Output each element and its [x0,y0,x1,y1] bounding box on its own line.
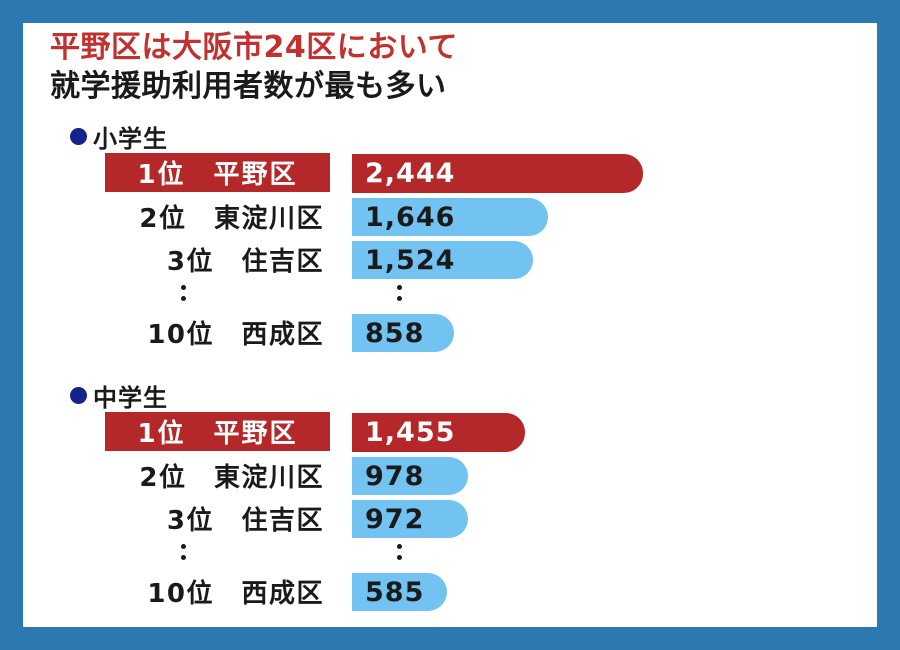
rank-ellipsis-row [23,282,877,312]
value-bar: 972 [352,500,468,538]
rank-row: 3位 住吉区1,524 [23,239,877,282]
section-heading-junior: 中学生 [23,378,877,412]
value-bar: 978 [352,457,468,495]
rank-row: 2位 東淀川区978 [23,455,877,498]
value-text: 972 [365,504,424,535]
value-text: 1,646 [365,202,455,233]
rank-ellipsis-row [23,541,877,571]
section-junior: 中学生1位 平野区1,4552位 東淀川区9783位 住吉区97210位 西成区… [23,378,877,614]
value-bar: 1,646 [352,198,548,236]
vertical-ellipsis-icon [397,544,402,560]
section-elementary: 小学生1位 平野区2,4442位 東淀川区1,6463位 住吉区1,52410位… [23,119,877,355]
outer-blue-frame: 平野区は大阪市24区において 就学援助利用者数が最も多い 小学生1位 平野区2,… [0,0,900,650]
value-text: 2,444 [365,158,455,189]
value-text: 1,455 [365,417,455,448]
value-text: 978 [365,461,424,492]
value-bar-highlighted: 1,455 [352,413,525,452]
rank-label-highlighted: 1位 平野区 [105,153,330,192]
rank-row: 10位 西成区585 [23,571,877,614]
value-text: 858 [365,318,424,349]
rank-row: 1位 平野区1,455 [23,412,877,455]
page-title: 平野区は大阪市24区において 就学援助利用者数が最も多い [50,33,458,102]
value-text: 585 [365,577,424,608]
value-bar: 585 [352,573,447,611]
vertical-ellipsis-icon [181,544,186,560]
rank-label-highlighted: 1位 平野区 [105,412,330,451]
rank-label: 10位 西成区 [23,571,330,612]
rank-label: 2位 東淀川区 [23,196,330,237]
rank-row: 2位 東淀川区1,646 [23,196,877,239]
rank-label: 10位 西成区 [23,312,330,353]
title-line-primary: 平野区は大阪市24区において [50,33,458,67]
filled-circle-icon [70,128,87,145]
rank-label: 3位 住吉区 [23,239,330,280]
vertical-ellipsis-icon [397,285,402,301]
vertical-ellipsis-icon [181,285,186,301]
rank-row: 10位 西成区858 [23,312,877,355]
rank-row: 3位 住吉区972 [23,498,877,541]
section-heading-label: 小学生 [93,119,168,154]
filled-circle-icon [70,387,87,404]
value-bar-highlighted: 2,444 [352,154,643,193]
value-bar: 1,524 [352,241,533,279]
value-text: 1,524 [365,245,455,276]
content-card: 平野区は大阪市24区において 就学援助利用者数が最も多い 小学生1位 平野区2,… [23,23,877,627]
section-heading-elementary: 小学生 [23,119,877,153]
rank-label: 3位 住吉区 [23,498,330,539]
rank-row: 1位 平野区2,444 [23,153,877,196]
value-bar: 858 [352,314,454,352]
rank-label: 2位 東淀川区 [23,455,330,496]
title-line-secondary: 就学援助利用者数が最も多い [50,67,458,102]
section-heading-label: 中学生 [93,378,168,413]
